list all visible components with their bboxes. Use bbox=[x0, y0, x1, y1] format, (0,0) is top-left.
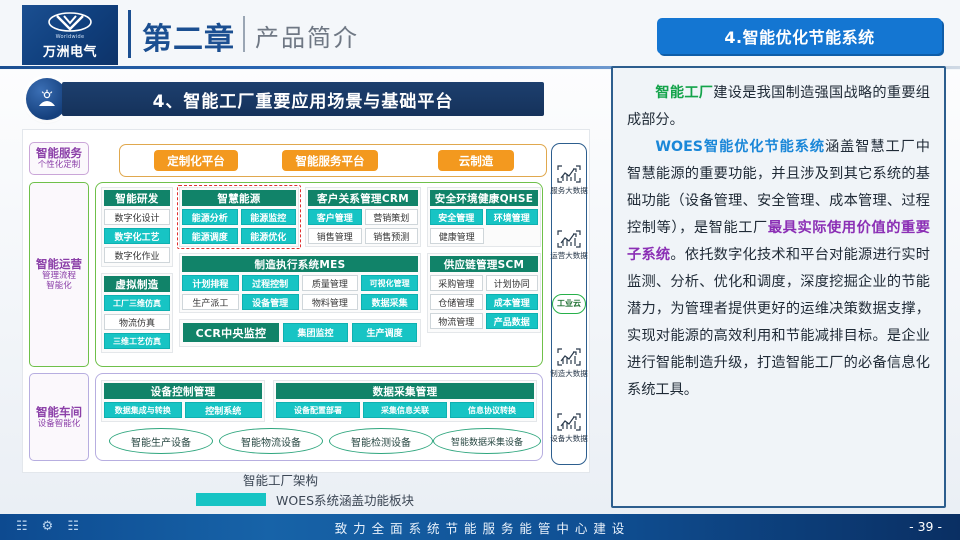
module-rd: 智能研发 数字化设计 数字化工艺 数字化作业 bbox=[101, 187, 173, 267]
module-smart-energy: 智慧能源 能源分析 能源监控 能源调度 能源优化 bbox=[179, 187, 299, 247]
rail-label-equipment: 设备大数据 bbox=[550, 433, 588, 444]
module-ccr-title: CCR中央监控 bbox=[183, 323, 279, 342]
logo-mark-icon bbox=[47, 11, 93, 33]
cell-scm-product[interactable]: 产品数据 bbox=[486, 313, 539, 329]
cell-crm-customer[interactable]: 客户管理 bbox=[308, 209, 362, 225]
module-device-control: 设备控制管理 数据集成与转换 控制系统 bbox=[101, 380, 265, 422]
module-virtual-title: 虚拟制造 bbox=[104, 276, 170, 292]
platform-button-cloud[interactable]: 云制造 bbox=[438, 150, 514, 171]
slide-root: Worldwide 万洲电气 第二章 产品简介 4、智能工厂重要应用场景与基础平… bbox=[0, 0, 960, 540]
cell-crm-forecast[interactable]: 销售预测 bbox=[365, 228, 419, 244]
cell-rd-0[interactable]: 数字化设计 bbox=[104, 209, 170, 225]
footer-icon-group: ☷ ⚙ ☷ bbox=[16, 519, 79, 534]
cell-scm-cost[interactable]: 成本管理 bbox=[486, 294, 539, 310]
legend-label: WOES系统涵盖功能板块 bbox=[276, 490, 414, 509]
module-scm-title: 供应链管理SCM bbox=[430, 256, 538, 272]
cell-qhse-health[interactable]: 健康管理 bbox=[430, 228, 484, 244]
device-oval-inspection[interactable]: 智能检测设备 bbox=[329, 428, 433, 454]
cell-rd-1[interactable]: 数字化工艺 bbox=[104, 228, 170, 244]
rail-label-service: 服务大数据 bbox=[550, 185, 588, 196]
chapter-title: 第二章 bbox=[142, 14, 235, 58]
module-qhse: 安全环境健康QHSE 安全管理 环境管理 健康管理 bbox=[427, 187, 541, 247]
module-dataacq-title: 数据采集管理 bbox=[276, 383, 534, 399]
rail-item-equipment[interactable]: 设备大数据 bbox=[550, 412, 588, 444]
footer-slogan: 致 力 全 面 系 统 节 能 服 务 能 管 中 心 建 设 bbox=[0, 514, 960, 540]
platform-button-service[interactable]: 智能服务平台 bbox=[282, 150, 378, 171]
module-mes: 制造执行系统MES 计划排程 过程控制 质量管理 可视化管理 生产派工 设备管理… bbox=[179, 253, 421, 313]
module-crm: 客户关系管理CRM 客户管理 营销策划 销售管理 销售预测 bbox=[305, 187, 421, 247]
module-virtual-mfg: 虚拟制造 工厂三维仿真 物流仿真 三维工艺仿真 bbox=[101, 273, 173, 353]
company-logo: Worldwide 万洲电气 bbox=[22, 5, 118, 65]
bar-chart-icon bbox=[556, 164, 582, 184]
cell-mes-material[interactable]: 物料管理 bbox=[302, 294, 359, 310]
book-icon[interactable]: ☷ bbox=[67, 519, 79, 534]
cell-dataacq-deploy[interactable]: 设备配置部署 bbox=[276, 402, 360, 418]
cell-ccr-schedule[interactable]: 生产调度 bbox=[352, 323, 417, 342]
cell-mes-dispatch[interactable]: 生产派工 bbox=[182, 294, 239, 310]
module-energy-title: 智慧能源 bbox=[182, 190, 296, 206]
bar-chart-icon bbox=[556, 347, 582, 367]
cell-qhse-env[interactable]: 环境管理 bbox=[486, 209, 539, 225]
cell-mes-quality[interactable]: 质量管理 bbox=[302, 275, 359, 291]
text-run-1-3: 。依托数字化技术和平台对能源进行实时监测、分析、优化和调度，深度挖掘企业的节能潜… bbox=[627, 247, 930, 398]
platform-strip: 定制化平台 智能服务平台 云制造 bbox=[119, 144, 547, 177]
page-number: - 39 - bbox=[909, 519, 942, 534]
rail-item-service[interactable]: 服务大数据 bbox=[550, 164, 588, 196]
cloud-icon[interactable]: 工业云 bbox=[552, 294, 586, 314]
cell-crm-sales[interactable]: 销售管理 bbox=[308, 228, 362, 244]
cell-scm-warehouse[interactable]: 仓储管理 bbox=[430, 294, 483, 310]
smart-factory-architecture-diagram: 智能服务 个性化定制 智能运营 管理流程 智能化 智能车间 设备智能化 定制化平… bbox=[22, 129, 590, 473]
header-vertical-rule bbox=[243, 16, 245, 52]
right-paragraph-0: 智能工厂建设是我国制造强国战略的重要组成部分。 bbox=[627, 80, 930, 134]
device-oval-data[interactable]: 智能数据采集设备 bbox=[433, 428, 541, 454]
cell-scm-plan[interactable]: 计划协同 bbox=[486, 275, 539, 291]
right-panel-title: 4.智能优化节能系统 bbox=[657, 18, 942, 54]
cell-devctrl-integration[interactable]: 数据集成与转换 bbox=[104, 402, 182, 418]
gear-icon[interactable]: ⚙ bbox=[42, 519, 54, 534]
cell-energy-dispatch[interactable]: 能源调度 bbox=[182, 228, 238, 244]
module-qhse-title: 安全环境健康QHSE bbox=[430, 190, 538, 206]
header-divider bbox=[128, 10, 131, 58]
cell-virtual-1[interactable]: 物流仿真 bbox=[104, 314, 170, 330]
module-crm-title: 客户关系管理CRM bbox=[308, 190, 418, 206]
right-paragraph-1: WOES智能优化节能系统涵盖智慧工厂中智慧能源的重要功能，并且涉及到其它系统的基… bbox=[627, 134, 930, 404]
row-label-smart-operation: 智能运营 管理流程 智能化 bbox=[29, 182, 89, 367]
rail-label-manufacture: 制造大数据 bbox=[550, 368, 588, 379]
logo-sub-text: Worldwide bbox=[56, 34, 85, 40]
chapter-subtitle: 产品简介 bbox=[255, 18, 359, 53]
bar-chart-icon bbox=[556, 229, 582, 249]
footer-bar: 致 力 全 面 系 统 节 能 服 务 能 管 中 心 建 设 ☷ ⚙ ☷ - … bbox=[0, 514, 960, 540]
cell-mes-process[interactable]: 过程控制 bbox=[242, 275, 299, 291]
cell-mes-dataacq[interactable]: 数据采集 bbox=[361, 294, 418, 310]
rail-label-operation: 运营大数据 bbox=[550, 250, 588, 261]
cell-scm-logistics[interactable]: 物流管理 bbox=[430, 313, 483, 329]
rail-item-manufacture[interactable]: 制造大数据 bbox=[550, 347, 588, 379]
module-ccr: CCR中央监控 集团监控 生产调度 bbox=[179, 319, 421, 347]
row-label-smart-service: 智能服务 个性化定制 bbox=[29, 142, 89, 175]
module-data-acquisition: 数据采集管理 设备配置部署 采集信息关联 信息协议转换 bbox=[273, 380, 537, 422]
cell-dataacq-protocol[interactable]: 信息协议转换 bbox=[450, 402, 534, 418]
device-oval-logistics[interactable]: 智能物流设备 bbox=[219, 428, 323, 454]
cell-rd-2[interactable]: 数字化作业 bbox=[104, 247, 170, 263]
module-rd-title: 智能研发 bbox=[104, 190, 170, 206]
sitemap-icon[interactable]: ☷ bbox=[16, 519, 28, 534]
cell-virtual-2[interactable]: 三维工艺仿真 bbox=[104, 333, 170, 349]
rail-item-operation[interactable]: 运营大数据 bbox=[550, 229, 588, 261]
module-devctrl-title: 设备控制管理 bbox=[104, 383, 262, 399]
cell-crm-marketing[interactable]: 营销策划 bbox=[365, 209, 419, 225]
row-label-smart-workshop: 智能车间 设备智能化 bbox=[29, 373, 89, 461]
platform-button-custom[interactable]: 定制化平台 bbox=[154, 150, 238, 171]
legend-swatch bbox=[196, 493, 266, 506]
cell-energy-analysis[interactable]: 能源分析 bbox=[182, 209, 238, 225]
cell-scm-purchase[interactable]: 采购管理 bbox=[430, 275, 483, 291]
device-oval-production[interactable]: 智能生产设备 bbox=[109, 428, 213, 454]
cell-devctrl-control[interactable]: 控制系统 bbox=[185, 402, 263, 418]
logo-company-name: 万洲电气 bbox=[43, 41, 97, 60]
right-panel-body: 智能工厂建设是我国制造强国战略的重要组成部分。WOES智能优化节能系统涵盖智慧工… bbox=[627, 80, 930, 404]
cell-ccr-group[interactable]: 集团监控 bbox=[283, 323, 348, 342]
diagram-caption: 智能工厂架构 bbox=[243, 470, 318, 489]
text-run-1-0: WOES智能优化节能系统 bbox=[655, 139, 825, 155]
cell-qhse-safety[interactable]: 安全管理 bbox=[430, 209, 483, 225]
cell-energy-optimize[interactable]: 能源优化 bbox=[241, 228, 297, 244]
text-run-0-0: 智能工厂 bbox=[655, 85, 713, 101]
module-scm: 供应链管理SCM 采购管理 计划协同 仓储管理 成本管理 物流管理 产品数据 bbox=[427, 253, 541, 333]
cell-virtual-0[interactable]: 工厂三维仿真 bbox=[104, 295, 170, 311]
cell-qhse-empty bbox=[487, 228, 539, 244]
bar-chart-icon bbox=[556, 412, 582, 432]
cell-mes-visual[interactable]: 可视化管理 bbox=[361, 275, 418, 291]
right-text-panel: 智能工厂建设是我国制造强国战略的重要组成部分。WOES智能优化节能系统涵盖智慧工… bbox=[611, 66, 946, 508]
big-data-rail: 服务大数据 运营大数据 工业云 bbox=[551, 143, 587, 465]
cell-dataacq-relate[interactable]: 采集信息关联 bbox=[363, 402, 447, 418]
cell-mes-equip[interactable]: 设备管理 bbox=[242, 294, 299, 310]
cell-energy-monitor[interactable]: 能源监控 bbox=[241, 209, 297, 225]
diagram-legend: WOES系统涵盖功能板块 bbox=[196, 490, 414, 509]
cell-mes-plan[interactable]: 计划排程 bbox=[182, 275, 239, 291]
section-title-bar: 4、智能工厂重要应用场景与基础平台 bbox=[62, 82, 544, 116]
module-mes-title: 制造执行系统MES bbox=[182, 256, 418, 272]
